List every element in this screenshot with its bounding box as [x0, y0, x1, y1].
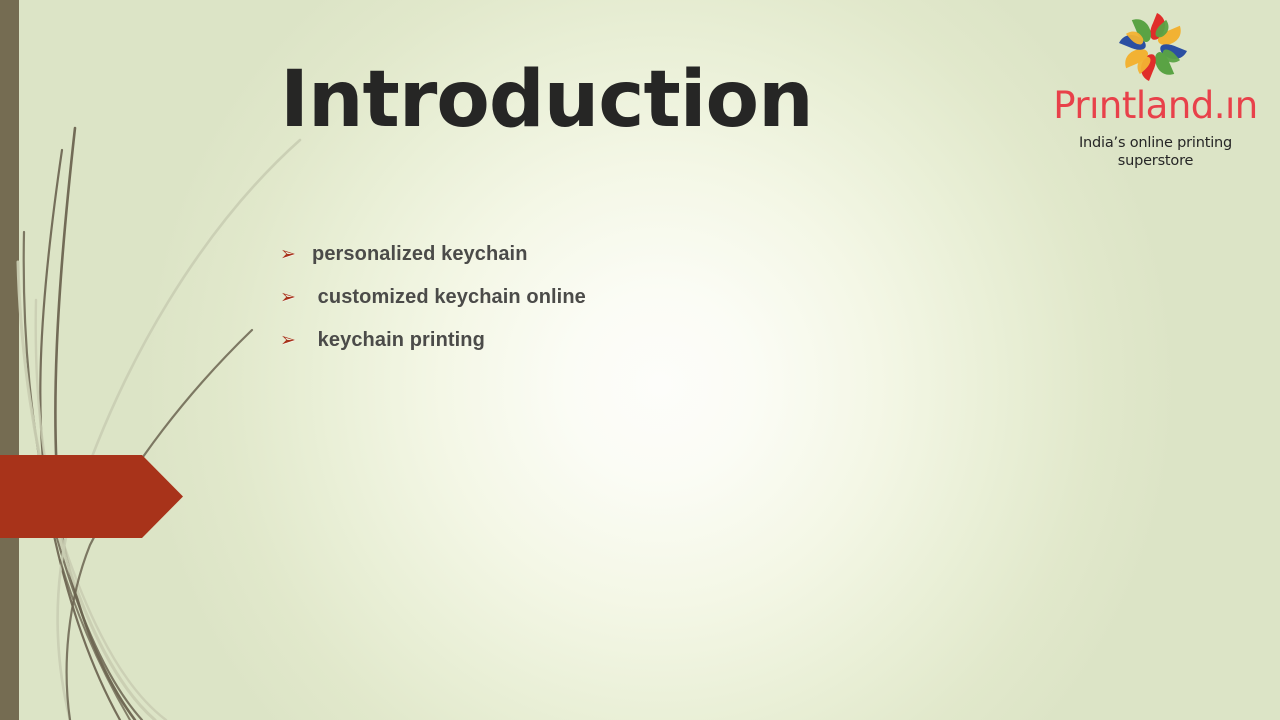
list-item-label: keychain printing [312, 329, 485, 352]
arrow-bullet-icon: ➢ [280, 245, 312, 264]
bullet-list: ➢ personalized keychain ➢ customized key… [280, 243, 980, 372]
slide-canvas: Introduction ➢ personalized keychain ➢ c… [0, 0, 1280, 720]
logo-wordmark: Prıntland.ın [1048, 84, 1263, 128]
chevron-banner [0, 455, 183, 538]
arrow-bullet-icon: ➢ [280, 331, 312, 350]
list-item-label: customized keychain online [312, 286, 586, 309]
logo-tagline: India’s online printing superstore [1048, 134, 1263, 170]
printland-logo: Prıntland.ın India’s online printing sup… [1048, 8, 1263, 153]
page-title: Introduction [280, 52, 813, 148]
list-item: ➢ customized keychain online [280, 286, 980, 329]
arrow-bullet-icon: ➢ [280, 288, 312, 307]
list-item: ➢ keychain printing [280, 329, 980, 372]
list-item-label: personalized keychain [312, 243, 528, 266]
list-item: ➢ personalized keychain [280, 243, 980, 286]
left-accent-bar [0, 0, 19, 720]
pinwheel-logo-icon [1103, 8, 1203, 86]
